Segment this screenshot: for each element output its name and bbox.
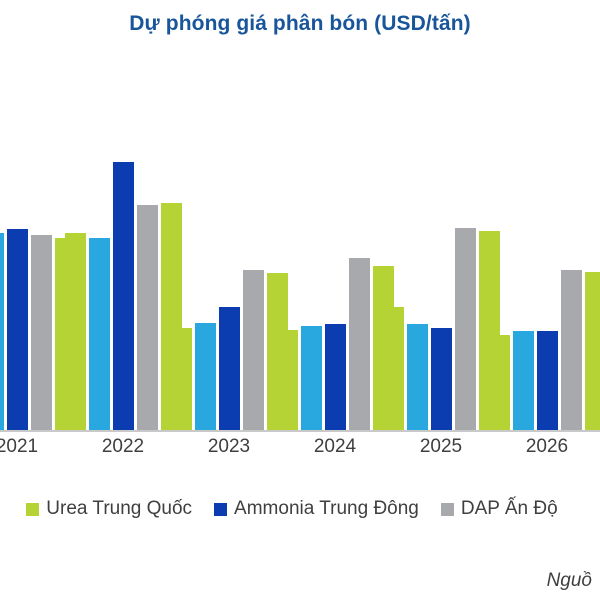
bar	[195, 323, 216, 430]
bar	[455, 228, 476, 430]
legend-item: Urea Trung Quốc	[26, 498, 192, 520]
bar-group	[277, 78, 394, 430]
bar	[171, 328, 192, 430]
x-axis-line	[0, 430, 600, 432]
x-axis-label-2024: 2024	[282, 436, 388, 458]
chart-legend: Urea Trung QuốcAmmonia Trung ĐôngDAP Ấn …	[0, 494, 600, 524]
bar	[585, 272, 600, 430]
bar	[277, 330, 298, 430]
bar	[513, 331, 534, 430]
bar	[383, 307, 404, 430]
bar	[561, 270, 582, 430]
bar	[407, 324, 428, 430]
bar-group	[65, 78, 182, 430]
legend-label: DAP Ấn Độ	[461, 498, 558, 520]
bar	[65, 233, 86, 430]
bar	[431, 328, 452, 430]
chart-title: Dự phóng giá phân bón (USD/tấn)	[0, 12, 600, 36]
bar-group	[171, 78, 288, 430]
source-note: Nguồ	[547, 570, 592, 592]
legend-swatch-icon	[441, 503, 454, 516]
fertilizer-price-forecast-chart: Dự phóng giá phân bón (USD/tấn) 20212022…	[0, 0, 600, 600]
bar	[349, 258, 370, 430]
legend-label: Urea Trung Quốc	[46, 498, 192, 520]
x-axis-label-2021: 2021	[0, 436, 70, 458]
bar-group	[383, 78, 500, 430]
bar	[219, 307, 240, 430]
x-axis-label-2026: 2026	[494, 436, 600, 458]
legend-item: DAP Ấn Độ	[441, 498, 558, 520]
x-axis-label-2025: 2025	[388, 436, 494, 458]
x-axis-tick-labels: 202120222023202420252026	[0, 436, 600, 470]
x-axis-label-2023: 2023	[176, 436, 282, 458]
bar	[537, 331, 558, 430]
bar	[243, 270, 264, 430]
bar	[301, 326, 322, 430]
bar	[137, 205, 158, 430]
bar	[89, 238, 110, 430]
legend-label: Ammonia Trung Đông	[234, 498, 419, 520]
legend-item: Ammonia Trung Đông	[214, 498, 419, 520]
bar	[31, 235, 52, 430]
legend-swatch-icon	[26, 503, 39, 516]
bar	[325, 324, 346, 430]
bar	[7, 229, 28, 430]
legend-swatch-icon	[214, 503, 227, 516]
bar	[489, 335, 510, 430]
bar	[113, 162, 134, 430]
bar-group	[489, 78, 600, 430]
x-axis-label-2022: 2022	[70, 436, 176, 458]
plot-area	[0, 78, 600, 430]
bar	[0, 233, 4, 430]
